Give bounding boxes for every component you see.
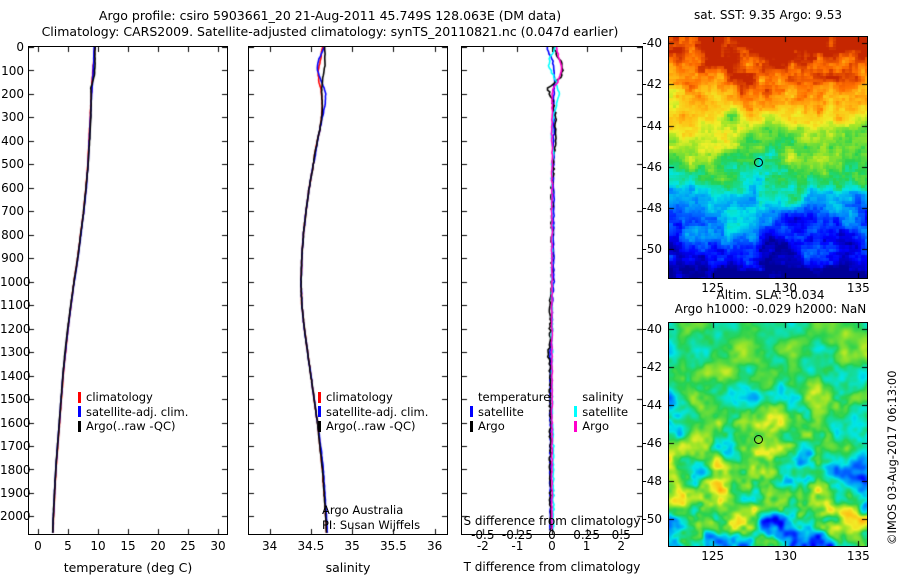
depth-tick-label: 700 xyxy=(0,205,24,217)
map-latitude-tick-label: -50 xyxy=(632,243,662,255)
depth-tick-label: 1200 xyxy=(0,323,24,335)
sla-map-title-line2: Argo h1000: -0.029 h2000: NaN xyxy=(663,302,878,316)
temperature-legend: climatologysatellite-adj. clim.Argo(..ra… xyxy=(78,390,188,434)
salinity-legend-label: climatology xyxy=(326,390,393,405)
map-latitude-tick-label: -46 xyxy=(632,161,662,173)
depth-tick-label: 1800 xyxy=(0,464,24,476)
depth-tick-label: 1500 xyxy=(0,393,24,405)
depth-tick-label: 1400 xyxy=(0,370,24,382)
sst-map-title: sat. SST: 9.35 Argo: 9.53 xyxy=(663,8,873,22)
temperature-profile-panel[interactable] xyxy=(28,46,228,535)
difference-profile-plot xyxy=(462,47,642,534)
difference-legend-entry: Argo xyxy=(574,419,628,434)
sla-map-profile-marker xyxy=(754,435,763,444)
salinity-legend: climatologysatellite-adj. clim.Argo(..ra… xyxy=(318,390,428,434)
sla-map-title: Altim. SLA: -0.034 Argo h1000: -0.029 h2… xyxy=(663,288,878,316)
salinity-legend-swatch xyxy=(318,406,321,417)
temperature-legend-swatch xyxy=(78,406,81,417)
difference-legend-swatch xyxy=(470,406,473,417)
salinity-legend-swatch xyxy=(318,392,321,403)
depth-tick-label: 1700 xyxy=(0,440,24,452)
difference-legend-group: salinitysatelliteArgo xyxy=(574,390,628,434)
salinity-legend-label: Argo(..raw -QC) xyxy=(326,419,416,434)
depth-tick-label: 400 xyxy=(0,135,24,147)
map-latitude-tick-label: -48 xyxy=(632,475,662,487)
sla-map-title-line1: Altim. SLA: -0.034 xyxy=(663,288,878,302)
depth-tick-label: 800 xyxy=(0,229,24,241)
depth-tick-label: 100 xyxy=(0,65,24,77)
salinity-axis-label: salinity xyxy=(248,560,448,575)
map-latitude-tick-label: -40 xyxy=(632,37,662,49)
depth-tick-label: 600 xyxy=(0,182,24,194)
difference-legend-group-header: temperature xyxy=(470,390,550,405)
map-latitude-tick-label: -40 xyxy=(632,323,662,335)
map-longitude-tick-label: 130 xyxy=(756,550,816,562)
salinity-difference-axis-label: S difference from climatology xyxy=(458,514,646,528)
difference-legend: temperaturesatelliteArgosalinitysatellit… xyxy=(470,390,628,434)
difference-legend-swatch xyxy=(470,421,473,432)
figure-title-line1: Argo profile: csiro 5903661_20 21-Aug-20… xyxy=(0,8,660,24)
temperature-axis-label: temperature (deg C) xyxy=(28,560,228,575)
map-latitude-tick-label: -44 xyxy=(632,399,662,411)
temperature-legend-entry: Argo(..raw -QC) xyxy=(78,419,188,434)
map-latitude-tick-label: -42 xyxy=(632,78,662,90)
difference-legend-group-header: salinity xyxy=(574,390,628,405)
salinity-profile-plot xyxy=(249,47,447,534)
difference-legend-group: temperaturesatelliteArgo xyxy=(470,390,550,434)
sst-map-field xyxy=(669,37,867,278)
difference-legend-label: Argo xyxy=(478,419,505,434)
map-latitude-tick-label: -44 xyxy=(632,120,662,132)
temperature-difference-axis-label: T difference from climatology xyxy=(458,560,646,574)
sla-map-field xyxy=(669,323,867,546)
map-latitude-tick-label: -50 xyxy=(632,513,662,525)
map-longitude-tick-label: 135 xyxy=(828,550,888,562)
depth-tick-label: 300 xyxy=(0,111,24,123)
difference-legend-entry: satellite xyxy=(574,405,628,420)
difference-profile-panel[interactable] xyxy=(461,46,643,535)
sst-map-title-line1: sat. SST: 9.35 Argo: 9.53 xyxy=(663,8,873,22)
temperature-profile-plot xyxy=(29,47,227,534)
salinity-legend-entry: Argo(..raw -QC) xyxy=(318,419,428,434)
sst-map[interactable] xyxy=(668,36,868,279)
temperature-legend-label: satellite-adj. clim. xyxy=(86,405,188,420)
credit-line2: PI: Susan Wijffels xyxy=(322,518,420,533)
depth-tick-label: 900 xyxy=(0,252,24,264)
difference-legend-label: Argo xyxy=(582,419,609,434)
map-latitude-tick-label: -42 xyxy=(632,361,662,373)
salinity-credit: Argo Australia PI: Susan Wijffels xyxy=(322,503,420,532)
temperature-legend-swatch xyxy=(78,392,81,403)
salinity-legend-entry: satellite-adj. clim. xyxy=(318,405,428,420)
copyright-label: ©IMOS 03-Aug-2017 06:13:00 xyxy=(885,370,899,545)
temperature-legend-swatch xyxy=(78,421,81,432)
difference-legend-entry: satellite xyxy=(470,405,550,420)
credit-line1: Argo Australia xyxy=(322,503,420,518)
depth-tick-label: 1100 xyxy=(0,299,24,311)
difference-legend-label: satellite xyxy=(582,405,628,420)
figure-title: Argo profile: csiro 5903661_20 21-Aug-20… xyxy=(0,8,660,40)
temperature-legend-entry: satellite-adj. clim. xyxy=(78,405,188,420)
difference-legend-label: satellite xyxy=(478,405,524,420)
sla-map[interactable] xyxy=(668,322,868,547)
difference-legend-entry: Argo xyxy=(470,419,550,434)
depth-tick-label: 0 xyxy=(0,41,24,53)
figure-title-line2: Climatology: CARS2009. Satellite-adjuste… xyxy=(0,24,660,40)
depth-tick-label: 1000 xyxy=(0,276,24,288)
depth-tick-label: 1300 xyxy=(0,346,24,358)
temperature-difference-tick-label: 2 xyxy=(591,540,651,552)
temperature-legend-entry: climatology xyxy=(78,390,188,405)
temperature-legend-label: Argo(..raw -QC) xyxy=(86,419,176,434)
depth-tick-label: 2000 xyxy=(0,510,24,522)
salinity-profile-panel[interactable] xyxy=(248,46,448,535)
sst-map-profile-marker xyxy=(754,158,763,167)
depth-tick-label: 200 xyxy=(0,88,24,100)
map-longitude-tick-label: 125 xyxy=(683,550,743,562)
salinity-legend-swatch xyxy=(318,421,321,432)
temperature-legend-label: climatology xyxy=(86,390,153,405)
map-latitude-tick-label: -48 xyxy=(632,202,662,214)
salinity-legend-label: satellite-adj. clim. xyxy=(326,405,428,420)
difference-legend-swatch xyxy=(574,421,577,432)
salinity-legend-entry: climatology xyxy=(318,390,428,405)
difference-legend-swatch xyxy=(574,406,577,417)
depth-tick-label: 1600 xyxy=(0,417,24,429)
depth-tick-label: 1900 xyxy=(0,487,24,499)
depth-tick-label: 500 xyxy=(0,158,24,170)
map-latitude-tick-label: -46 xyxy=(632,437,662,449)
